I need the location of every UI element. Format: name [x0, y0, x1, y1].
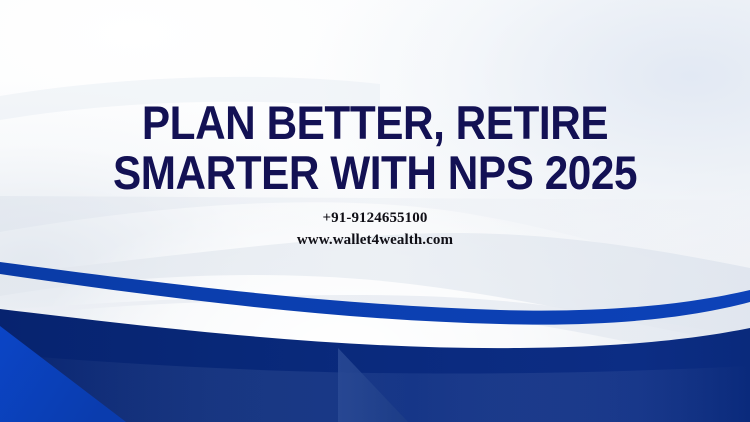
navy-wave-footer [0, 309, 750, 422]
promo-banner: Plan Better, Retire Smarter with NPS 202… [0, 0, 750, 422]
headline-line-2: Smarter with NPS 2025 [38, 148, 713, 198]
page-title: Plan Better, Retire Smarter with NPS 202… [38, 98, 713, 198]
contact-phone-number[interactable]: +91-9124655100 [0, 207, 750, 229]
blue-ribbon-swoosh [0, 262, 750, 325]
headline-line-1: Plan Better, Retire [38, 98, 713, 148]
bottom-wave-decoration [0, 262, 750, 422]
contact-info: +91-9124655100 www.wallet4wealth.com [0, 207, 750, 251]
contact-website-url[interactable]: www.wallet4wealth.com [0, 229, 750, 251]
